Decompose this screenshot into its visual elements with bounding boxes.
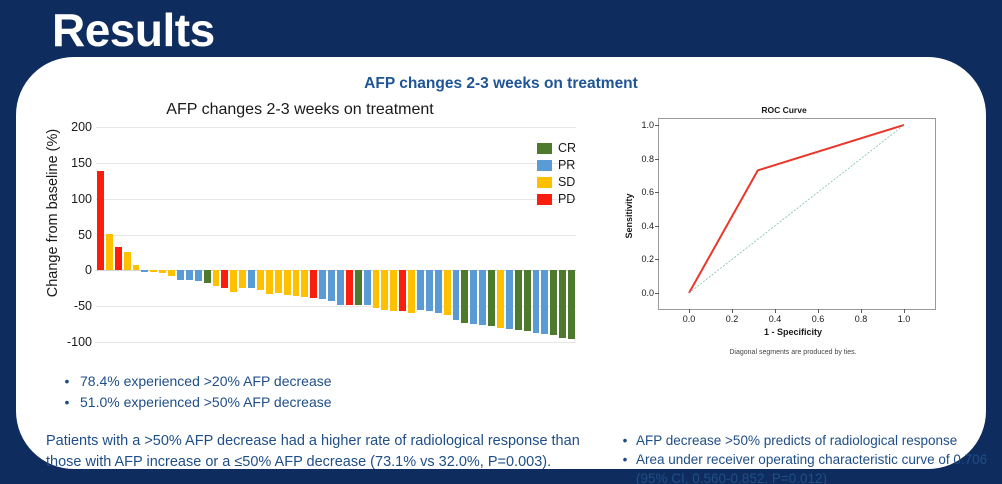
roc-x-tick: 0.6: [812, 314, 825, 324]
waterfall-bar: [533, 270, 540, 333]
waterfall-bar: [186, 270, 193, 280]
left-bullet-item-text: 78.4% experienced >20% AFP decrease: [80, 371, 332, 392]
waterfall-bar: [515, 270, 522, 329]
waterfall-y-ticks: 200150100500-50-100: [50, 127, 92, 342]
waterfall-bar: [115, 247, 122, 270]
waterfall-bar: [524, 270, 531, 331]
roc-x-axis-label: 1 - Specificity: [648, 327, 938, 337]
waterfall-bar: [390, 270, 397, 311]
roc-x-tick-mark: [861, 309, 862, 313]
waterfall-bar: [568, 270, 575, 339]
left-paragraph: Patients with a >50% AFP decrease had a …: [46, 431, 591, 473]
waterfall-bar: [230, 270, 237, 292]
roc-y-tick: 0.0: [641, 288, 654, 298]
waterfall-bar: [408, 270, 415, 313]
roc-x-tick: 0.8: [855, 314, 868, 324]
bullet-marker-icon: •: [54, 371, 80, 392]
roc-panel: ROC Curve Sensitivity 0.00.20.40.60.81.0…: [608, 101, 978, 466]
waterfall-bar: [124, 252, 131, 271]
roc-y-tick-mark: [655, 192, 659, 193]
waterfall-bar: [453, 270, 460, 320]
waterfall-bar: [559, 270, 566, 338]
card-header-title: AFP changes 2-3 weeks on treatment: [16, 75, 986, 93]
bullet-marker-icon: •: [54, 392, 80, 413]
roc-footnote: Diagonal segments are produced by ties.: [628, 349, 958, 356]
roc-x-tick: 0.2: [726, 314, 739, 324]
left-bullet-item-text: 51.0% experienced >50% AFP decrease: [80, 392, 332, 413]
waterfall-bar: [373, 270, 380, 308]
left-bullet-list: •78.4% experienced >20% AFP decrease•51.…: [54, 371, 584, 413]
waterfall-chart-title: AFP changes 2-3 weeks on treatment: [30, 101, 570, 119]
waterfall-bar: [328, 270, 335, 301]
waterfall-bar: [293, 270, 300, 296]
legend-item-label: PD: [558, 192, 575, 206]
waterfall-bar: [364, 270, 371, 305]
waterfall-bar: [346, 270, 353, 304]
roc-curve-svg: [659, 119, 937, 311]
waterfall-bar: [497, 270, 504, 327]
right-bullet-item: •Area under receiver operating character…: [614, 450, 1002, 484]
waterfall-bar: [97, 171, 104, 271]
roc-x-tick: 0.0: [683, 314, 696, 324]
legend-item: CR: [537, 141, 576, 155]
waterfall-bars: [96, 127, 576, 342]
waterfall-bar: [381, 270, 388, 309]
legend-item: SD: [537, 175, 576, 189]
legend-swatch-icon: [537, 160, 552, 171]
legend-item: PD: [537, 192, 576, 206]
legend-swatch-icon: [537, 177, 552, 188]
roc-y-axis-label: Sensitivity: [624, 173, 634, 259]
roc-x-tick: 1.0: [898, 314, 911, 324]
waterfall-bar: [479, 270, 486, 324]
waterfall-y-tick: 200: [52, 120, 92, 134]
roc-series-reference: [689, 125, 904, 293]
waterfall-bar: [221, 270, 228, 287]
waterfall-bar: [141, 270, 148, 272]
legend-swatch-icon: [537, 194, 552, 205]
roc-y-tick: 0.8: [641, 154, 654, 164]
waterfall-bar: [426, 270, 433, 311]
waterfall-bar: [444, 270, 451, 315]
bullet-marker-icon: •: [614, 450, 636, 469]
roc-chart: ROC Curve Sensitivity 0.00.20.40.60.81.0…: [608, 101, 960, 356]
waterfall-bar: [417, 270, 424, 309]
waterfall-y-tick: 0: [52, 263, 92, 277]
right-bullet-item-text: Area under receiver operating characteri…: [636, 450, 1002, 484]
right-bullet-item: •AFP decrease >50% predicts of radiologi…: [614, 431, 1002, 450]
roc-x-tick-mark: [904, 309, 905, 313]
roc-y-tick-mark: [655, 259, 659, 260]
waterfall-bar: [150, 270, 157, 272]
waterfall-bar: [399, 270, 406, 311]
waterfall-bar: [541, 270, 548, 334]
waterfall-bar: [310, 270, 317, 297]
waterfall-bar: [133, 265, 140, 270]
waterfall-gridline: [96, 342, 576, 343]
waterfall-bar: [239, 270, 246, 287]
waterfall-bar: [550, 270, 557, 335]
waterfall-y-tick: -50: [52, 299, 92, 313]
waterfall-bar: [257, 270, 264, 289]
waterfall-bar: [470, 270, 477, 324]
roc-x-tick-mark: [818, 309, 819, 313]
waterfall-bar: [284, 270, 291, 294]
waterfall-y-tick: 50: [52, 228, 92, 242]
right-bullet-list: •AFP decrease >50% predicts of radiologi…: [614, 431, 1002, 484]
waterfall-bar: [177, 270, 184, 279]
waterfall-bar: [319, 270, 326, 299]
waterfall-bar: [301, 270, 308, 297]
bullet-marker-icon: •: [614, 431, 636, 450]
waterfall-bar: [195, 270, 202, 281]
waterfall-bar: [337, 270, 344, 304]
roc-y-tick: 0.2: [641, 254, 654, 264]
waterfall-y-tick: 100: [52, 192, 92, 206]
roc-x-tick-mark: [732, 309, 733, 313]
page-title: Results: [52, 6, 215, 54]
roc-y-tick-mark: [655, 293, 659, 294]
waterfall-bar: [168, 270, 175, 276]
waterfall-legend: CRPRSDPD: [537, 141, 576, 206]
left-bullet-item: •51.0% experienced >50% AFP decrease: [54, 392, 584, 413]
content-card: AFP changes 2-3 weeks on treatment AFP c…: [16, 57, 986, 469]
roc-plot-area: 0.00.20.40.60.81.00.00.20.40.60.81.0: [658, 118, 936, 310]
legend-item: PR: [537, 158, 576, 172]
roc-y-tick-mark: [655, 226, 659, 227]
left-bullet-item: •78.4% experienced >20% AFP decrease: [54, 371, 584, 392]
roc-y-tick-mark: [655, 125, 659, 126]
waterfall-bar: [435, 270, 442, 312]
right-bullet-item-text: AFP decrease >50% predicts of radiologic…: [636, 431, 957, 450]
legend-item-label: PR: [558, 158, 575, 172]
roc-y-tick: 1.0: [641, 120, 654, 130]
roc-x-tick-mark: [689, 309, 690, 313]
waterfall-bar: [213, 270, 220, 286]
legend-item-label: CR: [558, 141, 576, 155]
waterfall-bar: [106, 234, 113, 271]
waterfall-bar: [488, 270, 495, 325]
waterfall-bar: [159, 270, 166, 273]
waterfall-bar: [266, 270, 273, 294]
waterfall-bar: [506, 270, 513, 329]
waterfall-plot-area: [96, 127, 576, 342]
roc-chart-title: ROC Curve: [608, 105, 960, 115]
roc-x-tick-mark: [775, 309, 776, 313]
roc-y-tick-mark: [655, 159, 659, 160]
waterfall-panel: AFP changes 2-3 weeks on treatment Chang…: [30, 101, 590, 466]
waterfall-chart: Change from baseline (%) 200150100500-50…: [30, 127, 578, 342]
roc-x-tick: 0.4: [769, 314, 782, 324]
slide-root: Results AFP changes 2-3 weeks on treatme…: [0, 0, 1002, 484]
waterfall-bar: [275, 270, 282, 293]
roc-y-tick: 0.6: [641, 187, 654, 197]
waterfall-bar: [461, 270, 468, 322]
legend-swatch-icon: [537, 143, 552, 154]
waterfall-bar: [355, 270, 362, 304]
waterfall-bar: [204, 270, 211, 283]
waterfall-y-tick: -100: [52, 335, 92, 349]
waterfall-bar: [248, 270, 255, 288]
legend-item-label: SD: [558, 175, 575, 189]
waterfall-y-tick: 150: [52, 156, 92, 170]
roc-y-tick: 0.4: [641, 221, 654, 231]
